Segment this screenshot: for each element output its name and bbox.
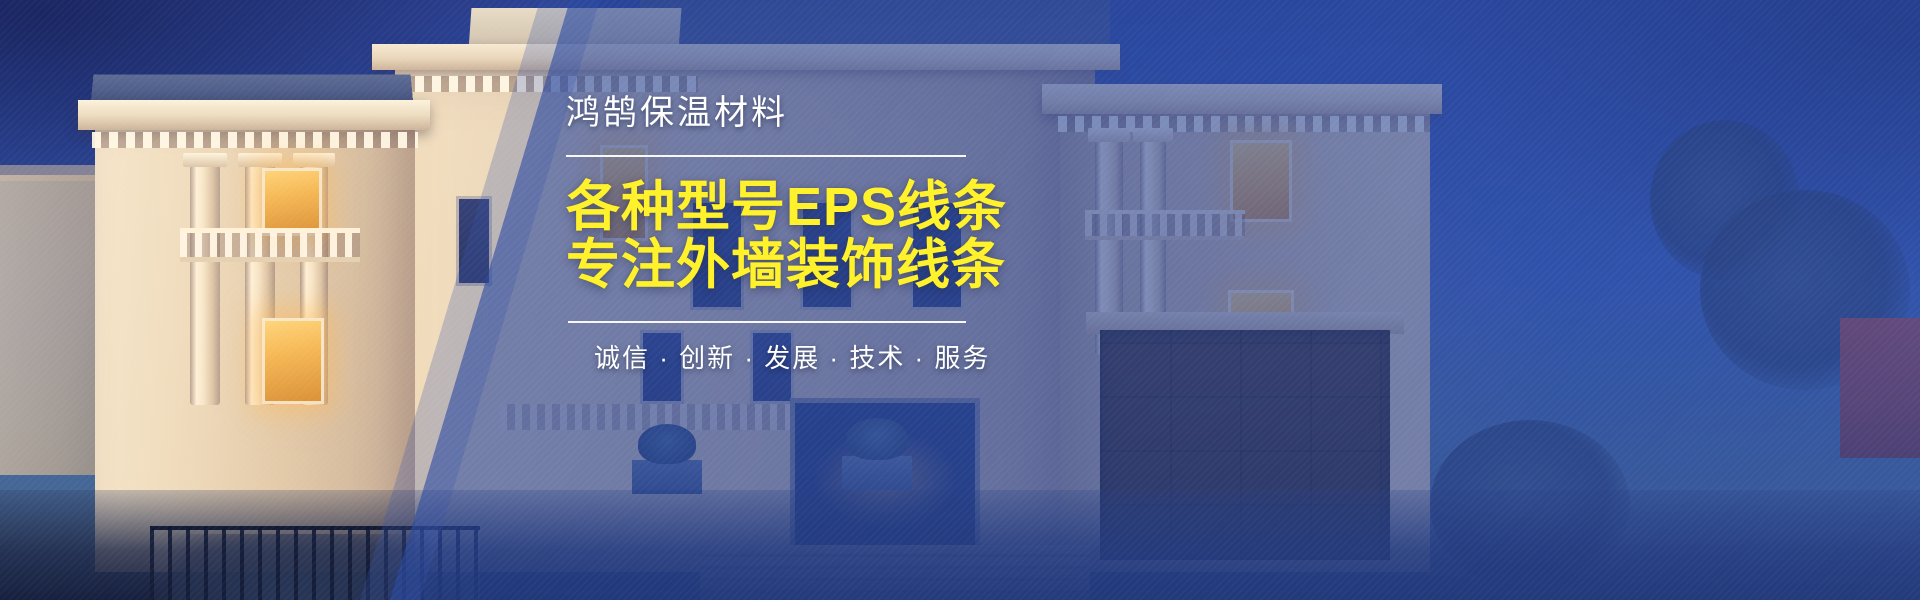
lit-window (262, 168, 322, 236)
brand-name: 鸿鹄保温材料 (566, 96, 1006, 130)
tagline: 诚信 · 创新 · 发展 · 技术 · 服务 (594, 345, 1006, 371)
divider-bottom (568, 321, 966, 323)
left-cornice (78, 100, 430, 130)
headline-line-1: 各种型号EPS线条 (566, 179, 1006, 237)
headline-group: 各种型号EPS线条 专注外墙装饰线条 (566, 179, 1006, 295)
banner-copy: 鸿鹄保温材料 各种型号EPS线条 专注外墙装饰线条 诚信 · 创新 · 发展 ·… (566, 96, 1006, 371)
balustrade (180, 228, 360, 262)
divider-top (566, 155, 966, 157)
headline-line-2: 专注外墙装饰线条 (566, 237, 1006, 295)
lit-window (262, 318, 324, 404)
hero-banner: 鸿鹄保温材料 各种型号EPS线条 专注外墙装饰线条 诚信 · 创新 · 发展 ·… (0, 0, 1920, 600)
left-dentil-row (92, 132, 418, 148)
column (190, 165, 220, 405)
